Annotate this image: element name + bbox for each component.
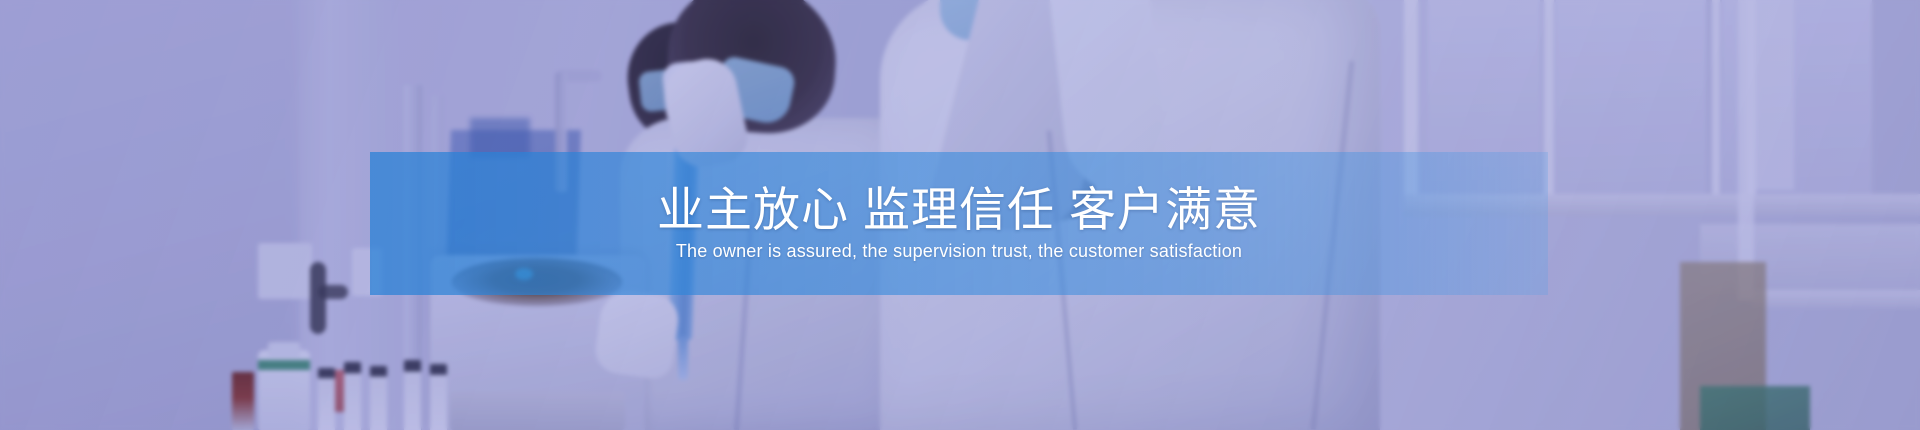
sample-vial [344,362,361,430]
bottle-cap [268,342,300,358]
gloved-hand [593,287,682,381]
green-box [1700,386,1810,430]
sample-vial [318,368,335,430]
headline-segment-3: 客户满意 [1069,183,1261,236]
power-cable [318,285,348,299]
wall-socket [258,243,312,299]
window-mullion [1712,0,1720,200]
sample-vial [430,364,447,430]
shelf [1752,290,1920,308]
window-mullion [1738,0,1754,300]
hero-banner: 业主放心监理信任客户满意 The owner is assured, the s… [0,0,1920,430]
pipette-tip [678,336,688,380]
centrifuge-base [450,392,625,430]
window-mullion [1752,0,1794,190]
window-pane [1556,0,1706,196]
headline-segment-2: 监理信任 [863,183,1055,236]
bottle-label [258,360,310,370]
sample-vial [370,366,387,430]
lab-wall-left [0,0,300,430]
headline-band-text: 业主放心监理信任客户满意 The owner is assured, the s… [370,152,1548,295]
page-subtitle: The owner is assured, the supervision tr… [676,241,1242,262]
sample-vial [404,360,421,430]
headline-segment-1: 业主放心 [657,183,849,236]
reagent-vial [232,372,254,430]
page-title: 业主放心监理信任客户满意 [657,185,1261,235]
